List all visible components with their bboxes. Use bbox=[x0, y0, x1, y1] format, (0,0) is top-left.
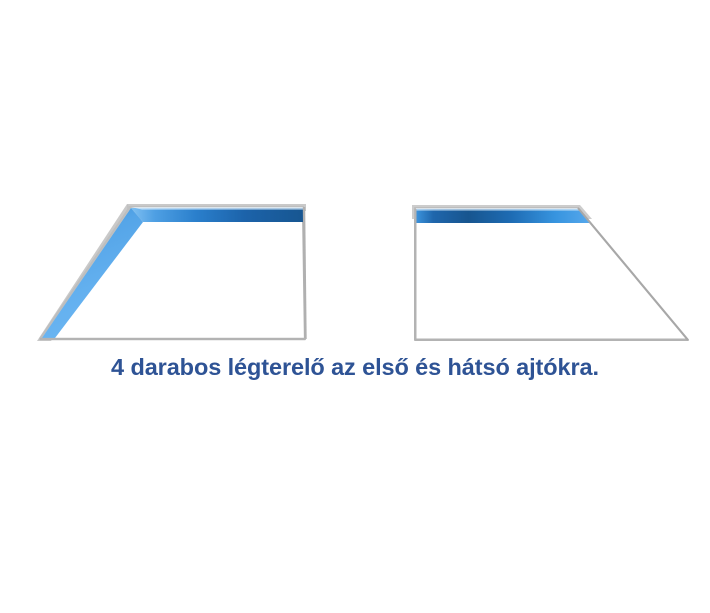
left-deflector-body bbox=[40, 207, 305, 339]
left-deflector-shape bbox=[37, 204, 306, 341]
caption-row: 4 darabos légterelő az első és hátsó ajt… bbox=[0, 352, 710, 382]
right-deflector-top-band bbox=[416, 209, 590, 223]
deflector-diagram-svg bbox=[0, 0, 710, 350]
deflector-diagram-stage bbox=[0, 0, 710, 350]
left-deflector-right-edge bbox=[304, 207, 306, 339]
left-deflector-band-sheen bbox=[131, 207, 303, 210]
right-deflector-band-sheen bbox=[416, 208, 581, 211]
product-figure: 4 darabos légterelő az első és hátsó ajt… bbox=[0, 0, 710, 613]
left-deflector-top-band bbox=[131, 208, 303, 222]
right-deflector-body bbox=[415, 208, 688, 340]
right-deflector-shape bbox=[412, 205, 688, 340]
product-caption: 4 darabos légterelő az első és hátsó ajt… bbox=[111, 352, 599, 382]
